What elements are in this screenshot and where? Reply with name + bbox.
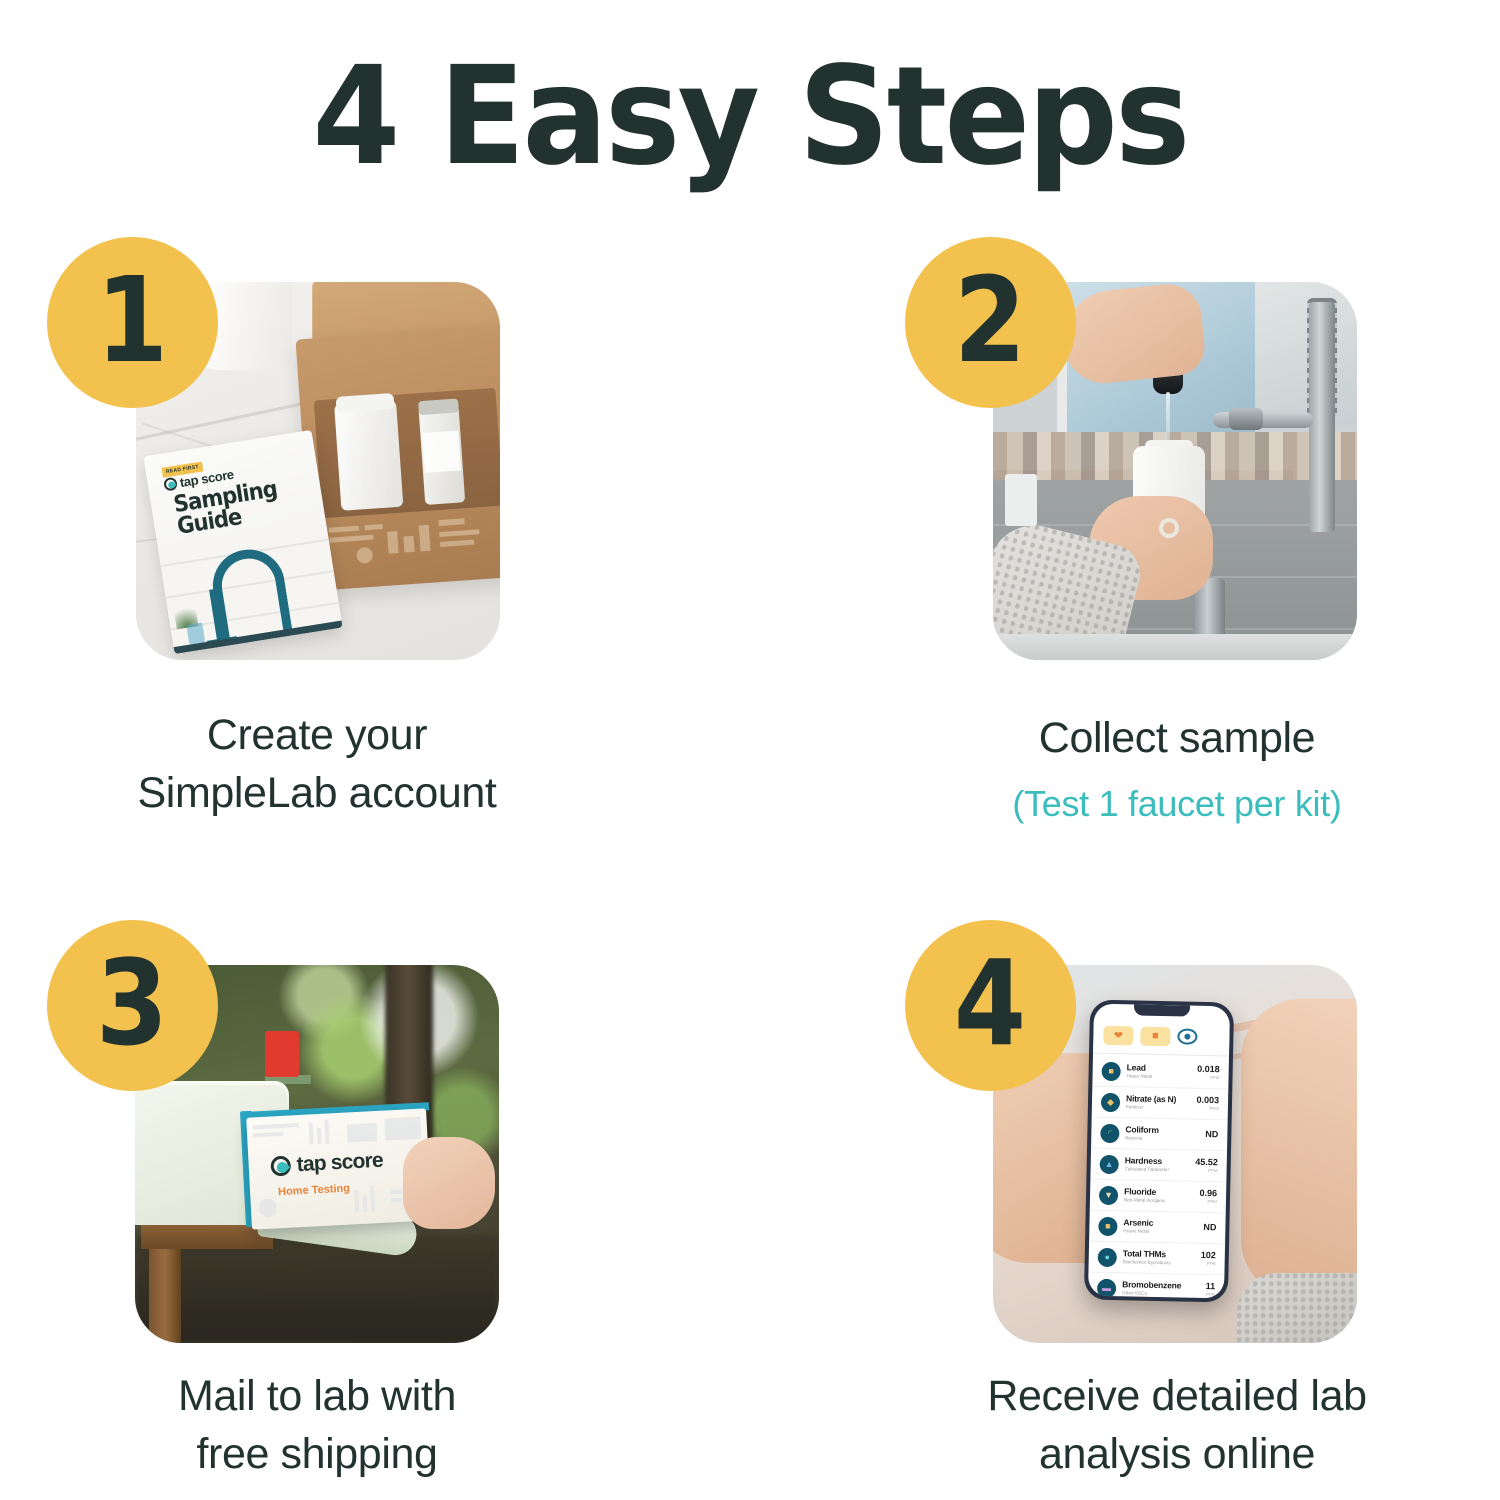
phone: ❤ ■ ■ Lead Heavy Metal xyxy=(1084,1000,1234,1303)
step-4-number: 4 xyxy=(954,944,1026,1062)
contaminant-value: 102 xyxy=(1201,1251,1216,1261)
contaminant-name: Nitrate (as N) xyxy=(1126,1094,1191,1105)
hand-right xyxy=(1241,999,1357,1299)
step-2-caption-note: (Test 1 faucet per kit) xyxy=(857,780,1497,828)
contaminant-icon[interactable]: ■ xyxy=(1140,1026,1170,1046)
contaminant-category: Bacteria xyxy=(1125,1136,1199,1143)
step-3-badge: 3 xyxy=(47,920,218,1091)
phone-screen: ❤ ■ ■ Lead Heavy Metal xyxy=(1088,1004,1230,1299)
health-icon[interactable]: ❤ xyxy=(1103,1025,1133,1045)
table-row[interactable]: ▬ Bromobenzene Other VOCs 11 PPB xyxy=(1088,1273,1224,1299)
app-toolbar: ❤ ■ xyxy=(1093,1018,1230,1055)
hand xyxy=(403,1137,495,1229)
sampling-guide-booklet: READ FIRST tap score Sampling Guide Powe… xyxy=(143,430,342,654)
contaminant-category: Disinfection Byproducts xyxy=(1123,1260,1195,1267)
package-brand: tap score xyxy=(296,1149,383,1177)
step-4-caption: Receive detailed lab analysis online xyxy=(857,1368,1497,1483)
contaminant-name: Fluoride xyxy=(1124,1187,1194,1198)
results-list: ■ Lead Heavy Metal 0.018 PPM xyxy=(1088,1056,1229,1299)
package-subtitle: Home Testing xyxy=(278,1182,350,1198)
contaminant-name: Bromobenzene xyxy=(1122,1280,1200,1291)
contaminant-unit: PPM xyxy=(1199,1199,1217,1205)
contaminant-unit: PPM xyxy=(1197,1075,1220,1081)
contaminant-name: Arsenic xyxy=(1123,1218,1197,1229)
contaminant-category: Non-Metal Inorganic xyxy=(1124,1198,1194,1205)
step-3-number: 3 xyxy=(96,944,168,1062)
contaminant-icon: ■ xyxy=(1101,1061,1120,1080)
step-2-number: 2 xyxy=(954,261,1026,379)
contaminant-category: Fertilizer xyxy=(1126,1105,1191,1112)
contaminant-unit: PPM xyxy=(1195,1168,1218,1174)
contaminant-category: Calculated Parameter xyxy=(1125,1167,1190,1174)
contaminant-unit: PPB xyxy=(1201,1261,1216,1267)
step-3-caption: Mail to lab with free shipping xyxy=(0,1368,637,1483)
contaminant-icon: ■ xyxy=(1098,1216,1117,1235)
eye-icon[interactable] xyxy=(1177,1028,1197,1044)
table-row[interactable]: ● Total THMs Disinfection Byproducts 102… xyxy=(1088,1242,1225,1276)
contaminant-category: Other VOCs xyxy=(1122,1291,1200,1298)
contaminant-icon: ● xyxy=(1098,1247,1117,1266)
contaminant-category: Heavy Metal xyxy=(1123,1229,1197,1236)
contaminant-value: ND xyxy=(1203,1223,1216,1233)
tap-score-logo-icon xyxy=(270,1156,291,1177)
contaminant-icon: ◆ xyxy=(1101,1092,1120,1111)
contaminant-name: Coliform xyxy=(1125,1125,1199,1136)
mailbox-flag xyxy=(265,1031,299,1077)
contaminant-name: Hardness xyxy=(1125,1156,1190,1167)
contaminant-value: 0.018 xyxy=(1197,1065,1220,1075)
table-row[interactable]: ◜ Coliform Bacteria ND xyxy=(1091,1118,1228,1152)
contaminant-name: Total THMs xyxy=(1123,1249,1195,1260)
step-1-caption: Create your SimpleLab account xyxy=(0,707,637,822)
table-row[interactable]: ■ Lead Heavy Metal 0.018 PPM xyxy=(1092,1056,1229,1090)
step-1-badge: 1 xyxy=(47,237,218,408)
contaminant-icon: ◜ xyxy=(1100,1123,1119,1142)
contaminant-value: 0.96 xyxy=(1199,1189,1217,1199)
contaminant-value: ND xyxy=(1205,1130,1218,1140)
table-row[interactable]: ◆ Nitrate (as N) Fertilizer 0.003 PPM xyxy=(1092,1087,1229,1121)
contaminant-unit: PPM xyxy=(1196,1106,1219,1112)
step-4-badge: 4 xyxy=(905,920,1076,1091)
table-row[interactable]: ▼ Fluoride Non-Metal Inorganic 0.96 PPM xyxy=(1090,1180,1227,1214)
faucet xyxy=(1309,302,1335,532)
step-2-badge: 2 xyxy=(905,237,1076,408)
contaminant-icon: ▲ xyxy=(1100,1154,1119,1173)
contaminant-value: 45.52 xyxy=(1195,1158,1218,1168)
contaminant-name: Lead xyxy=(1127,1063,1192,1074)
ring xyxy=(1159,518,1179,538)
contaminant-value: 11 xyxy=(1206,1282,1216,1292)
contaminant-category: Heavy Metal xyxy=(1126,1074,1191,1081)
contaminant-icon: ▬ xyxy=(1097,1278,1116,1297)
contaminant-value: 0.003 xyxy=(1196,1096,1219,1106)
wall-outlet xyxy=(1005,474,1037,526)
table-row[interactable]: ▲ Hardness Calculated Parameter 45.52 PP… xyxy=(1090,1149,1227,1183)
contaminant-icon: ▼ xyxy=(1099,1185,1118,1204)
table-row[interactable]: ■ Arsenic Heavy Metal ND xyxy=(1089,1211,1226,1245)
step-1-number: 1 xyxy=(96,261,168,379)
steps-grid: READ FIRST tap score Sampling Guide Powe… xyxy=(0,0,1500,1500)
contaminant-unit: PPB xyxy=(1205,1292,1215,1297)
step-2-caption: Collect sample (Test 1 faucet per kit) xyxy=(857,710,1497,828)
infographic-page: 4 Easy Steps xyxy=(0,0,1500,1500)
tap-score-logo-icon xyxy=(163,477,178,492)
